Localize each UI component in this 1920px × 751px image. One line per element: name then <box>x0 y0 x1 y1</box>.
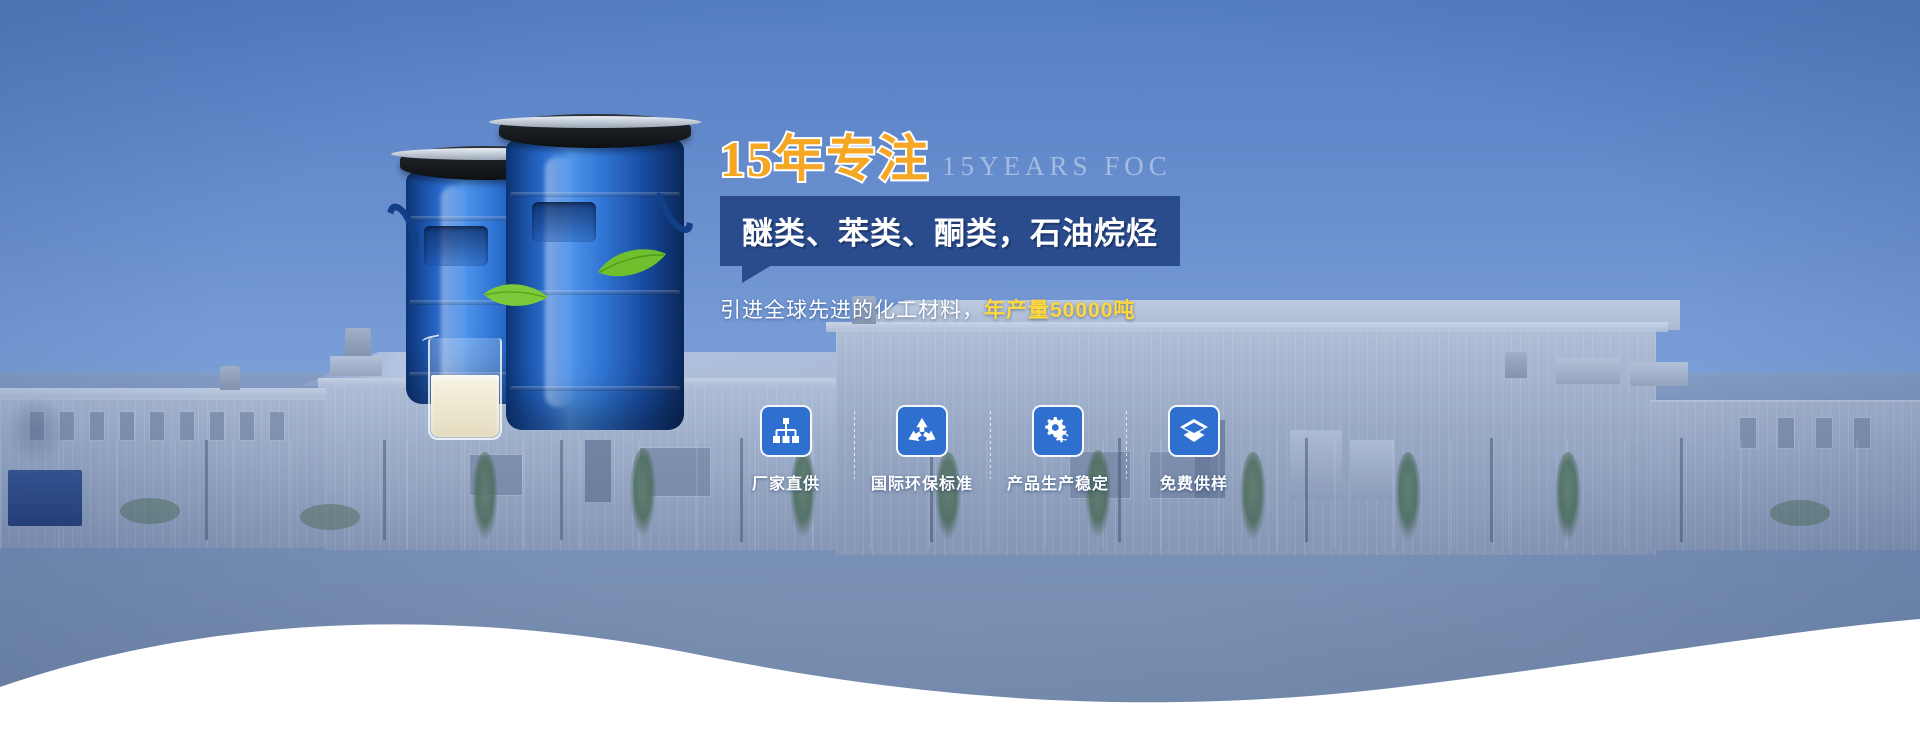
drum-lid <box>499 114 691 148</box>
feature-item-factory-direct[interactable]: 厂家直供 <box>718 405 854 494</box>
product-band-wrap: 醚类、苯类、酮类，石油烷烃 <box>720 196 1240 266</box>
feature-label: 国际环保标准 <box>871 470 973 494</box>
feature-item-free-sample[interactable]: 免费供样 <box>1126 405 1262 494</box>
copy-block: 15年专注 15YEARS FOC 醚类、苯类、酮类，石油烷烃 引进全球先进的化… <box>720 126 1240 324</box>
product-band: 醚类、苯类、酮类，石油烷烃 <box>720 196 1180 266</box>
hero-banner: 15年专注 15YEARS FOC 醚类、苯类、酮类，石油烷烃 引进全球先进的化… <box>0 0 1920 751</box>
subline-accent: 年产量50000吨 <box>984 299 1135 322</box>
green-leaf-icon <box>596 248 668 282</box>
subline: 引进全球先进的化工材料，年产量50000吨 <box>720 294 1240 324</box>
layers-box-icon <box>1168 405 1220 457</box>
sample-beaker <box>428 338 502 440</box>
subline-main: 引进全球先进的化工材料， <box>720 299 984 322</box>
product-band-text: 醚类、苯类、酮类，石油烷烃 <box>742 208 1158 253</box>
headline-row: 15年专注 15YEARS FOC <box>720 126 1240 184</box>
gears-icon <box>1032 405 1084 457</box>
headline-cn: 15年专注 <box>720 134 930 184</box>
band-tail-shape <box>742 265 772 283</box>
headline-en: 15YEARS FOC <box>942 153 1172 184</box>
bottom-wave-decoration <box>0 591 1920 751</box>
feature-label: 免费供样 <box>1160 470 1228 494</box>
feature-item-stable-production[interactable]: 产品生产稳定 <box>990 405 1126 494</box>
org-chart-icon <box>760 405 812 457</box>
feature-label: 产品生产稳定 <box>1007 470 1109 494</box>
recycle-icon <box>896 405 948 457</box>
feature-list: 厂家直供 国际环保标准 <box>718 405 1262 494</box>
blue-drum-front <box>506 140 684 430</box>
feature-label: 厂家直供 <box>752 470 820 494</box>
feature-item-eco-standard[interactable]: 国际环保标准 <box>854 405 990 494</box>
